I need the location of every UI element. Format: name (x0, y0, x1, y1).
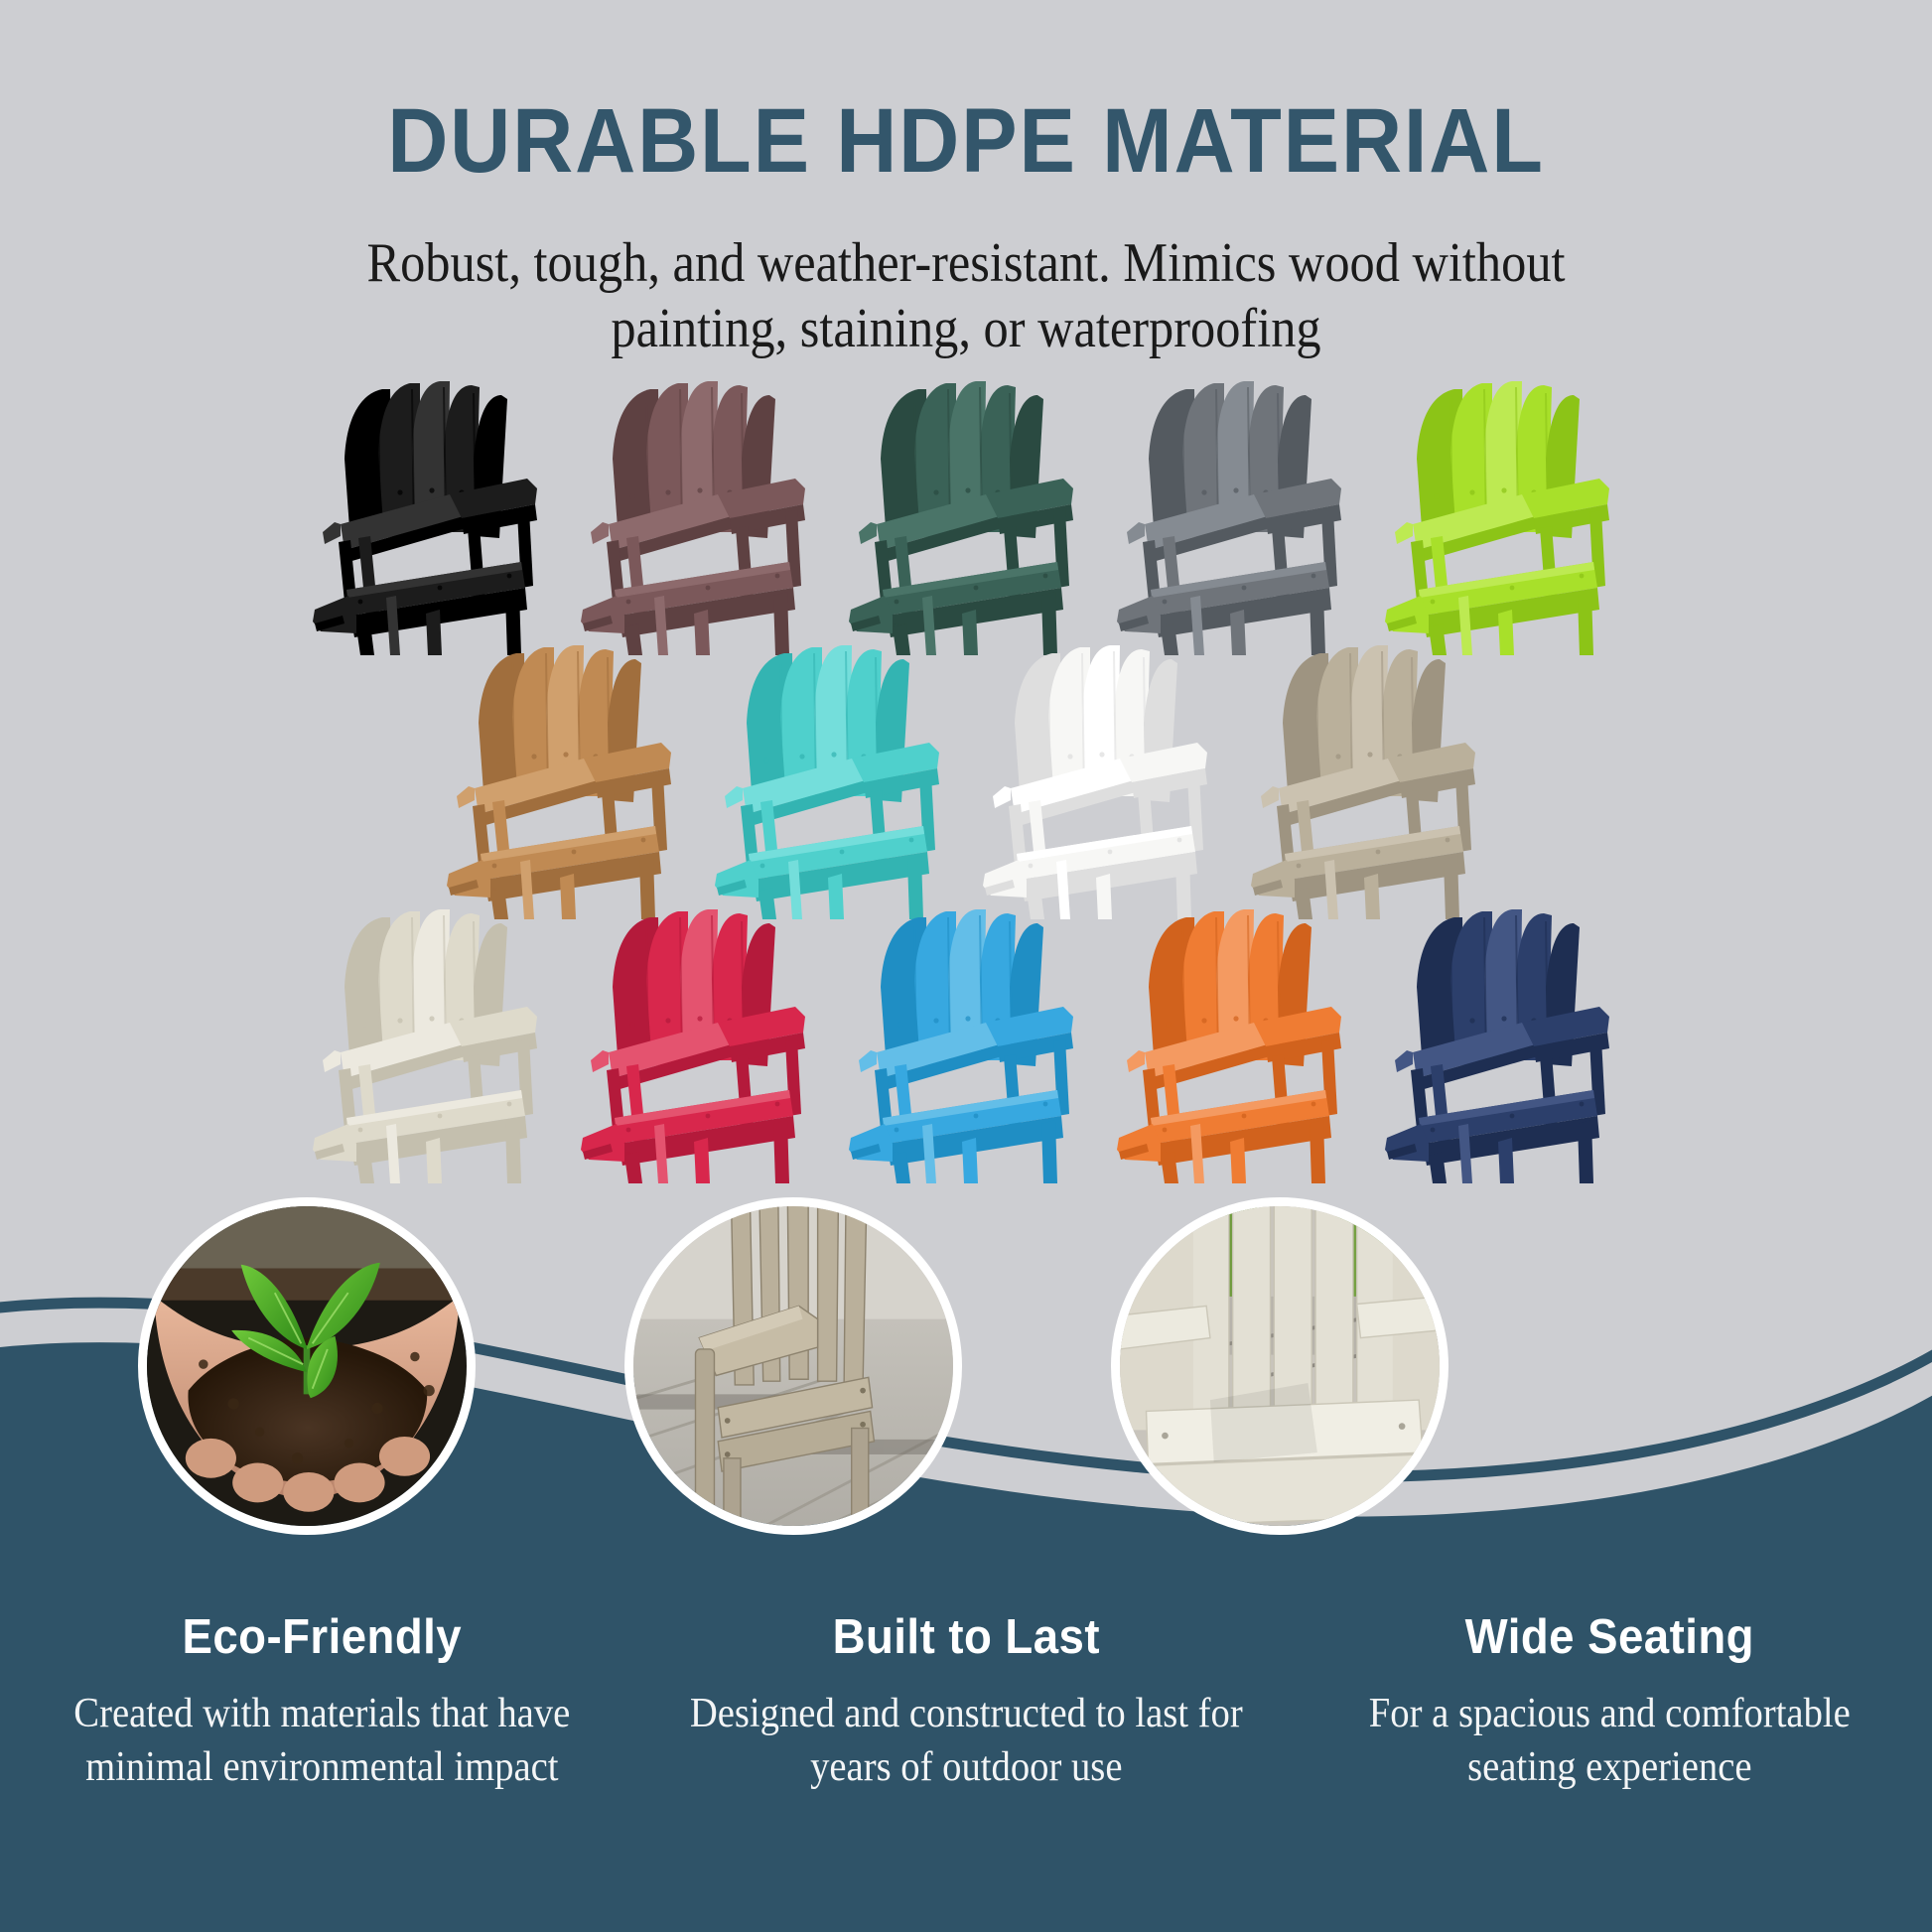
feature-description: Created with materials that have minimal… (43, 1688, 603, 1795)
chair-front-skirt (313, 596, 356, 633)
chair-front-skirt (1251, 860, 1295, 897)
feature-title: Wide Seating (1327, 1613, 1893, 1662)
adirondack-chair-teak (435, 631, 693, 919)
adirondack-chair-khaki (1239, 631, 1497, 919)
feature-1: Eco-FriendlyCreated with materials that … (0, 1613, 644, 1795)
chair-swatch-dark-green[interactable] (837, 367, 1095, 655)
adirondack-chair-dark-green (837, 367, 1095, 655)
chair-front-skirt (1117, 1124, 1161, 1162)
chair-front-skirt (581, 1124, 624, 1162)
chair-front-skirt (849, 596, 893, 633)
adirondack-chair-ivory (301, 896, 559, 1183)
feature-title: Built to Last (683, 1613, 1249, 1662)
chair-row-2 (0, 631, 1932, 919)
chair-swatch-orange[interactable] (1105, 896, 1363, 1183)
chair-swatch-ivory[interactable] (301, 896, 559, 1183)
chair-front-skirt (1385, 596, 1429, 633)
chair-swatch-gray[interactable] (1105, 367, 1363, 655)
feature-image-eco-friendly (138, 1197, 476, 1535)
adirondack-chair-turquoise (703, 631, 961, 919)
feature-description: For a spacious and comfortable seating e… (1330, 1688, 1890, 1795)
adirondack-chair-lime-green (1373, 367, 1631, 655)
adirondack-chair-gray (1105, 367, 1363, 655)
chair-front-skirt (1385, 1124, 1429, 1162)
feature-list: Eco-FriendlyCreated with materials that … (0, 1613, 1932, 1795)
khaki-chair-photo-icon (633, 1206, 953, 1526)
chair-row-1 (0, 367, 1932, 655)
chair-front-skirt (581, 596, 624, 633)
adirondack-chair-crimson (569, 896, 827, 1183)
chair-front-skirt (447, 860, 490, 897)
chair-front-skirt (983, 860, 1027, 897)
chair-swatch-white[interactable] (971, 631, 1229, 919)
feature-title: Eco-Friendly (39, 1613, 605, 1662)
infographic-canvas: DURABLE HDPE MATERIAL Robust, tough, and… (0, 0, 1932, 1932)
hands-holding-seedling-icon (147, 1206, 467, 1526)
page-subtitle: Robust, tough, and weather-resistant. Mi… (358, 230, 1574, 361)
adirondack-chair-navy (1373, 896, 1631, 1183)
chair-color-grid (0, 367, 1932, 1261)
chair-front-skirt (1117, 596, 1161, 633)
feature-description: Designed and constructed to last for yea… (686, 1688, 1246, 1795)
chair-swatch-black[interactable] (301, 367, 559, 655)
chair-swatch-crimson[interactable] (569, 896, 827, 1183)
chair-front-skirt (849, 1124, 893, 1162)
adirondack-chair-sky-blue (837, 896, 1095, 1183)
page-title: DURABLE HDPE MATERIAL (77, 95, 1855, 187)
ivory-chair-wide-seat-icon (1120, 1206, 1440, 1526)
chair-front-skirt (313, 1124, 356, 1162)
chair-row-3 (0, 896, 1932, 1183)
feature-image-wide-seating (1111, 1197, 1449, 1535)
chair-swatch-khaki[interactable] (1239, 631, 1497, 919)
feature-2: Built to LastDesigned and constructed to… (644, 1613, 1289, 1795)
chair-swatch-teak[interactable] (435, 631, 693, 919)
chair-swatch-turquoise[interactable] (703, 631, 961, 919)
chair-front-skirt (715, 860, 759, 897)
chair-swatch-navy[interactable] (1373, 896, 1631, 1183)
adirondack-chair-orange (1105, 896, 1363, 1183)
chair-swatch-lime-green[interactable] (1373, 367, 1631, 655)
feature-image-built-to-last (624, 1197, 962, 1535)
adirondack-chair-black (301, 367, 559, 655)
chair-swatch-sky-blue[interactable] (837, 896, 1095, 1183)
feature-3: Wide SeatingFor a spacious and comfortab… (1288, 1613, 1932, 1795)
chair-swatch-brown[interactable] (569, 367, 827, 655)
adirondack-chair-brown (569, 367, 827, 655)
adirondack-chair-white (971, 631, 1229, 919)
header: DURABLE HDPE MATERIAL Robust, tough, and… (0, 95, 1932, 361)
